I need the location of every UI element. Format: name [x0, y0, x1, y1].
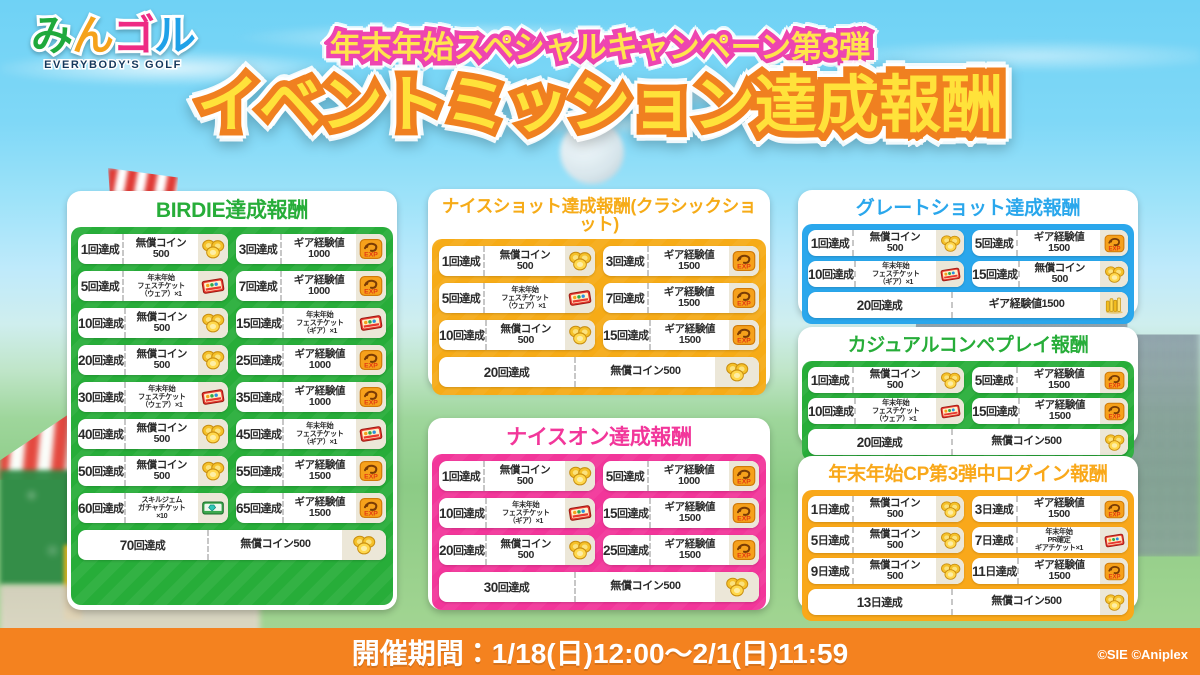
reward-label: ギア経験値1500 — [651, 535, 729, 565]
reward-icon-box — [356, 308, 386, 338]
panel-niceshot: ナイスショット達成報酬(クラシックショット)1回達成無償コイン5003回達成ギア… — [428, 189, 770, 389]
coins-icon — [568, 539, 592, 561]
reward-condition: 1回達成 — [439, 461, 485, 491]
reward-cell: 1回達成無償コイン500 — [808, 367, 964, 393]
reward-icon-box — [1100, 261, 1128, 287]
reward-row: 9日達成無償コイン50011日達成ギア経験値1500EXP — [808, 558, 1128, 584]
reward-cell: 25回達成ギア経験値1000EXP — [236, 345, 386, 375]
condition-count: 5 — [811, 533, 818, 548]
reward-condition: 20回達成 — [439, 357, 576, 387]
reward-condition: 5回達成 — [439, 283, 485, 313]
condition-suffix: 回達成 — [250, 352, 282, 368]
reward-label: 無償コイン500 — [126, 308, 198, 338]
condition-count: 5 — [81, 279, 88, 294]
coins-icon — [940, 234, 961, 253]
reward-condition: 20回達成 — [78, 345, 126, 375]
reward-label: 無償コイン500 — [854, 527, 936, 553]
exp-icon: EXP — [732, 250, 756, 272]
exp-icon: EXP — [732, 465, 756, 487]
condition-suffix: 回達成 — [250, 426, 282, 442]
condition-suffix: 回達成 — [453, 542, 485, 558]
reward-icon-box — [936, 398, 964, 424]
reward-cell: 1回達成無償コイン500 — [78, 234, 228, 264]
reward-cell: 11日達成ギア経験値1500EXP — [972, 558, 1128, 584]
event-period-text: 開催期間：1/18(日)12:00〜2/1(日)11:59 — [352, 632, 848, 672]
condition-count: 3 — [239, 242, 246, 257]
reward-cell: 5日達成無償コイン500 — [808, 527, 964, 553]
svg-text:EXP: EXP — [737, 553, 751, 560]
reward-row: 10回達成年末年始フェスチケット（ギア）×115回達成無償コイン500 — [808, 261, 1128, 287]
panel-body-login: 1日達成無償コイン5003日達成ギア経験値1500EXP5日達成無償コイン500… — [802, 490, 1134, 621]
reward-icon-box: EXP — [1100, 398, 1128, 424]
panel-title-greatshot: グレートショット達成報酬 — [802, 194, 1134, 224]
reward-label: ギア経験値1000 — [649, 461, 729, 491]
reward-cell: 15回達成無償コイン500 — [972, 261, 1128, 287]
exp-icon: EXP — [359, 497, 383, 519]
reward-row: 20回達成無償コイン500 — [439, 357, 759, 387]
reward-icon-box — [936, 527, 964, 553]
reward-condition: 10回達成 — [78, 308, 126, 338]
reward-cell: 30回達成年末年始フェスチケット（ウェア）×1 — [78, 382, 228, 412]
reward-row: 50回達成無償コイン50055回達成ギア経験値1500EXP — [78, 456, 386, 486]
reward-cell: 25回達成ギア経験値1500EXP — [603, 535, 759, 565]
reward-icon-box — [715, 572, 759, 602]
condition-count: 10 — [808, 267, 822, 282]
condition-suffix: 回達成 — [617, 327, 649, 343]
reward-condition: 5回達成 — [972, 230, 1018, 256]
reward-label: 無償コイン500 — [854, 496, 936, 522]
condition-count: 9 — [811, 564, 818, 579]
condition-suffix: 回達成 — [818, 372, 850, 388]
coins-icon — [201, 312, 225, 334]
reward-cell: 65回達成ギア経験値1500EXP — [236, 493, 386, 523]
page-title: イベントミッション達成報酬 — [0, 70, 1200, 142]
condition-suffix: 回達成 — [92, 389, 124, 405]
reward-label: 年末年始PR確定ギアチケット×1 — [1018, 527, 1100, 553]
reward-condition: 13日達成 — [808, 589, 953, 615]
ticket-icon — [568, 287, 592, 309]
reward-cell: 7日達成年末年始PR確定ギアチケット×1 — [972, 527, 1128, 553]
condition-suffix: 回達成 — [822, 266, 854, 282]
exp-icon: EXP — [1104, 371, 1125, 390]
reward-condition: 10回達成 — [439, 320, 487, 350]
coin-stack-icon — [1104, 296, 1125, 315]
reward-condition: 3回達成 — [236, 234, 282, 264]
condition-suffix: 回達成 — [498, 579, 530, 595]
reward-condition: 40回達成 — [78, 419, 126, 449]
reward-condition: 1回達成 — [808, 367, 854, 393]
condition-count: 25 — [603, 543, 617, 558]
panel-body-niceshot: 1回達成無償コイン5003回達成ギア経験値1500EXP5回達成年末年始フェスチ… — [432, 239, 766, 395]
coins-icon — [725, 361, 749, 383]
exp-icon: EXP — [732, 539, 756, 561]
condition-count: 7 — [606, 291, 613, 306]
logo-char-n: ん — [72, 12, 113, 59]
reward-row-final: 20回達成無償コイン500 — [808, 429, 1128, 455]
reward-icon-box: EXP — [356, 493, 386, 523]
reward-icon-box — [715, 357, 759, 387]
coins-icon — [201, 460, 225, 482]
reward-icon-box: EXP — [356, 271, 386, 301]
reward-condition: 50回達成 — [78, 456, 126, 486]
coins-icon — [725, 576, 749, 598]
coins-icon — [201, 423, 225, 445]
reward-condition: 25回達成 — [236, 345, 284, 375]
panel-body-greatshot: 1回達成無償コイン5005回達成ギア経験値1500EXP10回達成年末年始フェス… — [802, 224, 1134, 324]
condition-count: 1 — [442, 469, 449, 484]
reward-condition: 30回達成 — [439, 572, 576, 602]
reward-icon-box: EXP — [356, 456, 386, 486]
reward-condition: 35回達成 — [236, 382, 284, 412]
condition-suffix: 回達成 — [822, 403, 854, 419]
condition-suffix: 回達成 — [92, 426, 124, 442]
reward-icon-box — [1100, 292, 1128, 318]
condition-count: 10 — [439, 328, 453, 343]
svg-text:EXP: EXP — [364, 511, 378, 518]
panel-title-niceon: ナイスオン達成報酬 — [432, 422, 766, 454]
reward-icon-box — [565, 283, 595, 313]
reward-label: ギア経験値1500 — [651, 498, 729, 528]
reward-icon-box: EXP — [729, 246, 759, 276]
condition-suffix: 回達成 — [982, 235, 1014, 251]
exp-icon: EXP — [732, 324, 756, 346]
panel-login: 年末年始CP第3弾中ログイン報酬1日達成無償コイン5003日達成ギア経験値150… — [798, 456, 1138, 610]
condition-count: 20 — [857, 298, 871, 313]
reward-condition: 11日達成 — [972, 558, 1019, 584]
condition-suffix: 回達成 — [982, 372, 1014, 388]
ticket-icon — [1104, 531, 1125, 550]
panel-birdie: BIRDIE達成報酬1回達成無償コイン5003回達成ギア経験値1000EXP5回… — [67, 191, 397, 610]
exp-icon: EXP — [732, 502, 756, 524]
reward-row: 13日達成無償コイン500 — [808, 589, 1128, 615]
reward-cell: 55回達成ギア経験値1500EXP — [236, 456, 386, 486]
reward-label: 無償コイン500 — [485, 246, 565, 276]
reward-condition: 15回達成 — [972, 398, 1020, 424]
reward-label: ギア経験値1000 — [282, 271, 356, 301]
reward-condition: 5回達成 — [78, 271, 124, 301]
condition-suffix: 回達成 — [986, 403, 1018, 419]
reward-icon-box — [1100, 589, 1128, 615]
reward-label: ギア経験値1500 — [1018, 367, 1100, 393]
svg-text:EXP: EXP — [737, 479, 751, 486]
reward-label: 年末年始フェスチケット（ギア）×1 — [487, 498, 565, 528]
reward-icon-box: EXP — [729, 535, 759, 565]
reward-cell: 15回達成ギア経験値1500EXP — [603, 498, 759, 528]
reward-icon-box: EXP — [1100, 558, 1128, 584]
exp-icon: EXP — [359, 386, 383, 408]
reward-condition: 7日達成 — [972, 527, 1018, 553]
svg-text:EXP: EXP — [737, 338, 751, 345]
reward-label: ギア経験値1500 — [1019, 558, 1100, 584]
reward-condition: 3日達成 — [972, 496, 1018, 522]
coins-icon — [568, 465, 592, 487]
reward-cell: 45回達成年末年始フェスチケット（ギア）×1 — [236, 419, 386, 449]
reward-label: 年末年始フェスチケット（ギア）×1 — [284, 308, 356, 338]
condition-count: 5 — [606, 469, 613, 484]
condition-count: 10 — [808, 404, 822, 419]
reward-row: 5回達成年末年始フェスチケット（ウェア）×17回達成ギア経験値1500EXP — [439, 283, 759, 313]
condition-count: 1 — [811, 236, 818, 251]
reward-label: ギア経験値1500 — [1018, 230, 1100, 256]
panel-title-niceshot: ナイスショット達成報酬(クラシックショット) — [432, 193, 766, 239]
svg-text:EXP: EXP — [364, 363, 378, 370]
reward-label: 無償コイン500 — [1020, 261, 1100, 287]
coins-icon — [940, 531, 961, 550]
reward-cell: 1回達成無償コイン500 — [439, 461, 595, 491]
reward-label: ギア経験値1500 — [284, 493, 356, 523]
reward-cell: 5回達成ギア経験値1500EXP — [972, 230, 1128, 256]
reward-condition: 55回達成 — [236, 456, 284, 486]
coins-icon — [568, 324, 592, 346]
reward-icon-box: EXP — [1100, 496, 1128, 522]
coins-icon — [1104, 265, 1125, 284]
condition-count: 10 — [439, 506, 453, 521]
reward-label: 年末年始フェスチケット（ウェア）×1 — [126, 382, 198, 412]
coins-icon — [201, 349, 225, 371]
ticket-icon — [359, 312, 383, 334]
reward-cell: 1回達成無償コイン500 — [439, 246, 595, 276]
condition-suffix: 回達成 — [453, 505, 485, 521]
condition-suffix: 回達成 — [250, 463, 282, 479]
condition-count: 65 — [236, 501, 250, 516]
reward-condition: 60回達成 — [78, 493, 126, 523]
reward-icon-box — [936, 558, 964, 584]
reward-condition: 1回達成 — [808, 230, 854, 256]
reward-icon-box — [565, 320, 595, 350]
reward-label: 無償コイン500 — [487, 535, 565, 565]
reward-icon-box — [198, 345, 228, 375]
condition-count: 15 — [603, 328, 617, 343]
condition-suffix: 回達成 — [88, 241, 120, 257]
reward-cell: 3回達成ギア経験値1000EXP — [236, 234, 386, 264]
reward-row: 20回達成無償コイン50025回達成ギア経験値1000EXP — [78, 345, 386, 375]
reward-condition: 20回達成 — [808, 292, 953, 318]
condition-suffix: 回達成 — [449, 290, 481, 306]
reward-cell: 10回達成無償コイン500 — [78, 308, 228, 338]
reward-label: 無償コイン500 — [126, 345, 198, 375]
reward-icon-box: EXP — [729, 461, 759, 491]
reward-row-final: 13日達成無償コイン500 — [808, 589, 1128, 615]
panel-casual: カジュアルコンペプレイ報酬1回達成無償コイン5005回達成ギア経験値1500EX… — [798, 327, 1138, 445]
condition-count: 70 — [120, 538, 134, 553]
reward-label: 無償コイン500 — [124, 234, 198, 264]
exp-icon: EXP — [1104, 562, 1125, 581]
reward-icon-box: EXP — [356, 382, 386, 412]
reward-icon-box: EXP — [729, 320, 759, 350]
coins-icon — [201, 238, 225, 260]
condition-count: 55 — [236, 464, 250, 479]
reward-label: 無償コイン500 — [576, 357, 715, 387]
condition-count: 15 — [236, 316, 250, 331]
condition-suffix: 日達成 — [818, 532, 850, 548]
logo-char-go: ゴ — [113, 12, 154, 59]
reward-icon-box: EXP — [729, 283, 759, 313]
condition-suffix: 回達成 — [449, 468, 481, 484]
exp-icon: EXP — [732, 287, 756, 309]
reward-icon-box — [198, 271, 228, 301]
reward-cell: 5回達成ギア経験値1500EXP — [972, 367, 1128, 393]
event-period-bar: 開催期間：1/18(日)12:00〜2/1(日)11:59 — [0, 628, 1200, 675]
reward-cell: 10回達成無償コイン500 — [439, 320, 595, 350]
reward-icon-box — [936, 261, 964, 287]
ticket-icon — [940, 402, 961, 421]
reward-cell: 9日達成無償コイン500 — [808, 558, 964, 584]
coins-icon — [1104, 433, 1125, 452]
reward-cell: 3回達成ギア経験値1500EXP — [603, 246, 759, 276]
reward-label: 年末年始フェスチケット（ウェア）×1 — [856, 398, 936, 424]
reward-cell: 10回達成年末年始フェスチケット（ギア）×1 — [439, 498, 595, 528]
reward-row: 1回達成無償コイン5005回達成ギア経験値1500EXP — [808, 367, 1128, 393]
reward-icon-box: EXP — [1100, 230, 1128, 256]
condition-count: 10 — [78, 316, 92, 331]
logo-char-mi: み — [31, 12, 72, 59]
reward-icon-box — [198, 493, 228, 523]
condition-suffix: 回達成 — [617, 505, 649, 521]
reward-label: ギア経験値1500 — [649, 283, 729, 313]
reward-label: 無償コイン500 — [953, 429, 1100, 455]
reward-row: 20回達成無償コイン500 — [808, 429, 1128, 455]
reward-row: 40回達成無償コイン50045回達成年末年始フェスチケット（ギア）×1 — [78, 419, 386, 449]
condition-count: 5 — [442, 291, 449, 306]
condition-count: 60 — [78, 501, 92, 516]
reward-condition: 25回達成 — [603, 535, 651, 565]
svg-text:EXP: EXP — [737, 264, 751, 271]
reward-icon-box — [565, 461, 595, 491]
condition-count: 15 — [603, 506, 617, 521]
reward-row: 60回達成スキルジェムガチャチケット×1065回達成ギア経験値1500EXP — [78, 493, 386, 523]
reward-row: 5日達成無償コイン5007日達成年末年始PR確定ギアチケット×1 — [808, 527, 1128, 553]
reward-row: 20回達成無償コイン50025回達成ギア経験値1500EXP — [439, 535, 759, 565]
logo-characters: みんゴル — [18, 14, 208, 58]
reward-cell: 10回達成年末年始フェスチケット（ウェア）×1 — [808, 398, 964, 424]
reward-condition: 20回達成 — [439, 535, 487, 565]
condition-suffix: 回達成 — [818, 235, 850, 251]
reward-condition: 1回達成 — [439, 246, 485, 276]
reward-condition: 15回達成 — [236, 308, 284, 338]
ticket-icon — [940, 265, 961, 284]
reward-label: 無償コイン500 — [126, 456, 198, 486]
reward-cell: 15回達成ギア経験値1500EXP — [603, 320, 759, 350]
condition-count: 7 — [975, 533, 982, 548]
reward-label: ギア経験値1500 — [1018, 496, 1100, 522]
reward-cell: 50回達成無償コイン500 — [78, 456, 228, 486]
gem-ticket-icon — [201, 497, 225, 519]
reward-row: 10回達成無償コイン50015回達成年末年始フェスチケット（ギア）×1 — [78, 308, 386, 338]
condition-suffix: 日達成 — [818, 501, 850, 517]
condition-suffix: 回達成 — [871, 297, 903, 313]
reward-cell: 10回達成年末年始フェスチケット（ギア）×1 — [808, 261, 964, 287]
reward-cell: 1日達成無償コイン500 — [808, 496, 964, 522]
svg-text:EXP: EXP — [364, 252, 378, 259]
reward-row: 70回達成無償コイン500 — [78, 530, 386, 560]
condition-count: 25 — [236, 353, 250, 368]
reward-label: ギア経験値1500 — [953, 292, 1100, 318]
panel-title-birdie: BIRDIE達成報酬 — [71, 195, 393, 227]
reward-label: 年末年始フェスチケット（ウェア）×1 — [485, 283, 565, 313]
condition-count: 30 — [78, 390, 92, 405]
condition-count: 35 — [236, 390, 250, 405]
reward-condition: 3回達成 — [603, 246, 649, 276]
reward-condition: 20回達成 — [808, 429, 953, 455]
condition-suffix: 回達成 — [449, 253, 481, 269]
reward-icon-box — [198, 382, 228, 412]
condition-suffix: 日達成 — [982, 501, 1014, 517]
reward-label: 無償コイン500 — [126, 419, 198, 449]
reward-label: 無償コイン500 — [209, 530, 342, 560]
condition-count: 7 — [239, 279, 246, 294]
condition-count: 40 — [78, 427, 92, 442]
condition-suffix: 回達成 — [617, 542, 649, 558]
reward-condition: 7回達成 — [236, 271, 282, 301]
reward-condition: 5回達成 — [603, 461, 649, 491]
reward-condition: 30回達成 — [78, 382, 126, 412]
reward-cell: 7回達成ギア経験値1000EXP — [236, 271, 386, 301]
exp-icon: EXP — [359, 349, 383, 371]
exp-icon: EXP — [1104, 402, 1125, 421]
reward-condition: 7回達成 — [603, 283, 649, 313]
reward-cell: 5回達成年末年始フェスチケット（ウェア）×1 — [78, 271, 228, 301]
reward-condition: 15回達成 — [972, 261, 1020, 287]
panel-greatshot: グレートショット達成報酬1回達成無償コイン5005回達成ギア経験値1500EXP… — [798, 190, 1138, 316]
reward-row: 1回達成無償コイン5005回達成ギア経験値1500EXP — [808, 230, 1128, 256]
condition-count: 15 — [972, 404, 986, 419]
reward-row: 5回達成年末年始フェスチケット（ウェア）×17回達成ギア経験値1000EXP — [78, 271, 386, 301]
reward-condition: 10回達成 — [439, 498, 487, 528]
panel-title-login: 年末年始CP第3弾中ログイン報酬 — [802, 460, 1134, 490]
reward-label: ギア経験値1000 — [284, 345, 356, 375]
reward-cell: 20回達成無償コイン500 — [439, 535, 595, 565]
reward-cell: 20回達成無償コイン500 — [78, 345, 228, 375]
svg-text:EXP: EXP — [1108, 246, 1120, 252]
reward-label: 年末年始フェスチケット（ギア）×1 — [284, 419, 356, 449]
condition-suffix: 回達成 — [92, 463, 124, 479]
reward-label: ギア経験値1000 — [284, 382, 356, 412]
condition-count: 20 — [484, 365, 498, 380]
condition-count: 30 — [484, 580, 498, 595]
condition-count: 50 — [78, 464, 92, 479]
condition-suffix: 回達成 — [134, 537, 166, 553]
reward-row: 30回達成無償コイン500 — [439, 572, 759, 602]
reward-cell: 5回達成ギア経験値1000EXP — [603, 461, 759, 491]
reward-label: ギア経験値1500 — [1020, 398, 1100, 424]
reward-condition: 5回達成 — [972, 367, 1018, 393]
condition-count: 5 — [975, 236, 982, 251]
reward-row: 1回達成無償コイン5003回達成ギア経験値1000EXP — [78, 234, 386, 264]
panel-body-casual: 1回達成無償コイン5005回達成ギア経験値1500EXP10回達成年末年始フェス… — [802, 361, 1134, 461]
svg-text:EXP: EXP — [1108, 512, 1120, 518]
coins-icon — [940, 371, 961, 390]
condition-suffix: 日達成 — [871, 594, 903, 610]
reward-icon-box — [565, 246, 595, 276]
condition-count: 3 — [606, 254, 613, 269]
condition-suffix: 回達成 — [92, 315, 124, 331]
svg-text:EXP: EXP — [737, 516, 751, 523]
reward-row-final: 70回達成無償コイン500 — [78, 530, 386, 560]
reward-row: 10回達成無償コイン50015回達成ギア経験値1500EXP — [439, 320, 759, 350]
condition-suffix: 回達成 — [92, 500, 124, 516]
svg-text:EXP: EXP — [737, 301, 751, 308]
reward-cell: 15回達成年末年始フェスチケット（ギア）×1 — [236, 308, 386, 338]
reward-row: 10回達成年末年始フェスチケット（ギア）×115回達成ギア経験値1500EXP — [439, 498, 759, 528]
condition-suffix: 日達成 — [982, 532, 1014, 548]
coins-icon — [1104, 593, 1125, 612]
panel-body-niceon: 1回達成無償コイン5005回達成ギア経験値1000EXP10回達成年末年始フェス… — [432, 454, 766, 610]
condition-suffix: 回達成 — [246, 241, 278, 257]
condition-suffix: 回達成 — [453, 327, 485, 343]
ticket-icon — [201, 275, 225, 297]
coins-icon — [940, 500, 961, 519]
reward-icon-box — [565, 498, 595, 528]
